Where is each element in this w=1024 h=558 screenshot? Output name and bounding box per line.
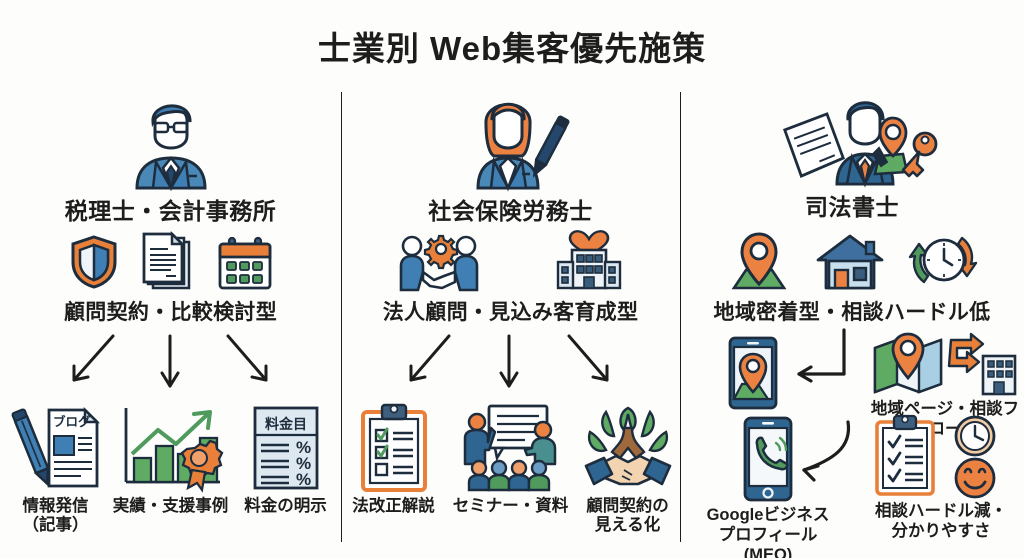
trait-block-scrivener: 地域密着型・相談ハードル低 bbox=[680, 228, 1024, 326]
handshake-gear-icon bbox=[396, 232, 482, 290]
flow-label-easy-consult: 相談ハードル減・ 分かりやすさ bbox=[875, 502, 1007, 542]
scrivener-document-key-icon bbox=[680, 88, 1024, 184]
arrows-labor bbox=[341, 328, 680, 406]
arrow-down-right bbox=[228, 336, 266, 380]
tactic-label: 実績・支援事例 bbox=[113, 497, 229, 516]
map-building-flow-icon bbox=[871, 330, 1019, 398]
persona-name: 司法書士 bbox=[680, 188, 1024, 222]
tactics-labor: 法改正解説 bbox=[341, 400, 680, 536]
arrow-down-left bbox=[411, 336, 449, 380]
arrows-tax bbox=[0, 328, 341, 406]
tactic-item: セミナー・資料 bbox=[452, 400, 570, 536]
smartphone-map-pin-icon bbox=[720, 336, 786, 410]
tree-handshake-icon bbox=[580, 400, 676, 492]
tactic-item: ブログ 情報発信 （記事） bbox=[6, 400, 106, 536]
infographic-root: 士業別 Web集客優先施策 税理士・会計事 bbox=[0, 0, 1024, 558]
arrow-elbow-left bbox=[799, 330, 844, 374]
growth-chart-award-icon bbox=[116, 400, 226, 492]
arrow-down-right bbox=[569, 336, 607, 380]
price-inner-text: 料金目 bbox=[265, 416, 307, 432]
documents-icon bbox=[141, 232, 195, 290]
column-tax-accountant: 税理士・会計事務所 bbox=[0, 0, 341, 558]
businessman-glasses-icon bbox=[0, 92, 341, 188]
flow-item-smartphone-map bbox=[720, 336, 786, 410]
price-list-icon: 料金目 % % % bbox=[245, 400, 327, 492]
column-judicial-scrivener: 司法書士 bbox=[680, 0, 1024, 558]
calendar-icon bbox=[217, 236, 273, 290]
trait-label: 法人顧問・見込み客育成型 bbox=[341, 296, 680, 326]
flow-label-gbp: Googleビジネス プロフィール (MEO) bbox=[700, 506, 836, 558]
shield-icon bbox=[69, 234, 119, 290]
tactic-item: 実績・支援事例 bbox=[112, 400, 230, 536]
tactic-item: 法改正解説 bbox=[344, 400, 444, 536]
businesswoman-pen-icon bbox=[341, 92, 680, 188]
smartphone-call-icon bbox=[736, 416, 800, 502]
flow-item-gbp: Googleビジネス プロフィール (MEO) bbox=[700, 416, 836, 558]
building-heart-icon bbox=[552, 228, 626, 290]
tactic-label: 料金の明示 bbox=[244, 497, 327, 516]
trait-block-tax: 顧問契約・比較検討型 bbox=[0, 228, 341, 326]
tactic-item: 顧問契約の 見える化 bbox=[578, 400, 678, 536]
trait-label: 地域密着型・相談ハードル低 bbox=[680, 296, 1024, 326]
house-icon bbox=[816, 232, 884, 290]
persona-judicial-scrivener: 司法書士 bbox=[680, 88, 1024, 222]
trait-block-labor: 法人顧問・見込み客育成型 bbox=[341, 228, 680, 326]
seminar-presentation-icon bbox=[455, 400, 567, 492]
tactic-label: 法改正解説 bbox=[352, 497, 435, 516]
persona-labor-consultant: 社会保険労務士 bbox=[341, 92, 680, 226]
checklist-clipboard-icon bbox=[357, 400, 431, 492]
tactic-item: 料金目 % % % 料金の明示 bbox=[236, 400, 336, 536]
pen-blog-article-icon: ブログ bbox=[9, 400, 103, 492]
tactic-label: セミナー・資料 bbox=[453, 497, 569, 516]
arrow-down-left bbox=[74, 336, 113, 380]
blog-inner-text: ブログ bbox=[53, 414, 91, 429]
svg-text:%: % bbox=[296, 470, 311, 489]
persona-name: 税理士・会計事務所 bbox=[0, 192, 341, 226]
map-pin-icon bbox=[728, 232, 790, 290]
persona-tax-accountant: 税理士・会計事務所 bbox=[0, 92, 341, 226]
tactic-label: 情報発信 （記事） bbox=[23, 497, 89, 536]
flow-item-easy-consult: 相談ハードル減・ 分かりやすさ bbox=[866, 414, 1016, 542]
column-labor-consultant: 社会保険労務士 bbox=[341, 0, 680, 558]
persona-name: 社会保険労務士 bbox=[341, 192, 680, 226]
checklist-clock-smile-icon bbox=[871, 414, 1011, 498]
trait-label: 顧問契約・比較検討型 bbox=[0, 296, 341, 326]
tactic-label: 顧問契約の 見える化 bbox=[586, 497, 669, 536]
clock-cycle-icon bbox=[910, 230, 976, 290]
tactics-tax: ブログ 情報発信 （記事） bbox=[0, 400, 341, 536]
